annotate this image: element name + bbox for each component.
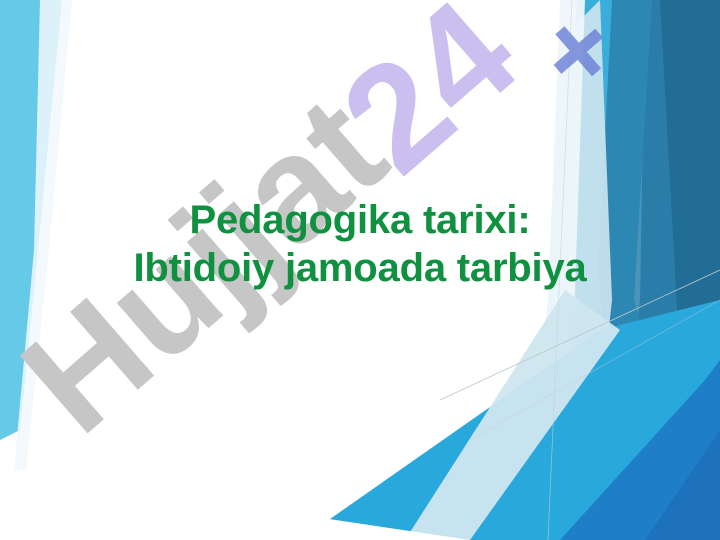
watermark-plus-text: + (513, 0, 642, 118)
bottom-pale-wedge (405, 290, 620, 540)
bottom-white-fold (0, 470, 470, 540)
title-line-1: Pedagogika tarixi: (0, 196, 720, 244)
title-line-2: Ibtidoiy jamoada tarbiya (0, 244, 720, 292)
fold-hairline-lower (470, 300, 720, 440)
watermark-number-text: 24 (311, 0, 547, 204)
title-slide: Hujjat 24 + Pedagogika tarixi: Ibtidoiy … (0, 0, 720, 540)
bottom-deep-blue-triangle (645, 430, 720, 540)
slide-title: Pedagogika tarixi: Ibtidoiy jamoada tarb… (0, 196, 720, 292)
bottom-blue-triangle (560, 360, 720, 540)
bottom-cyan-triangle (300, 300, 720, 540)
